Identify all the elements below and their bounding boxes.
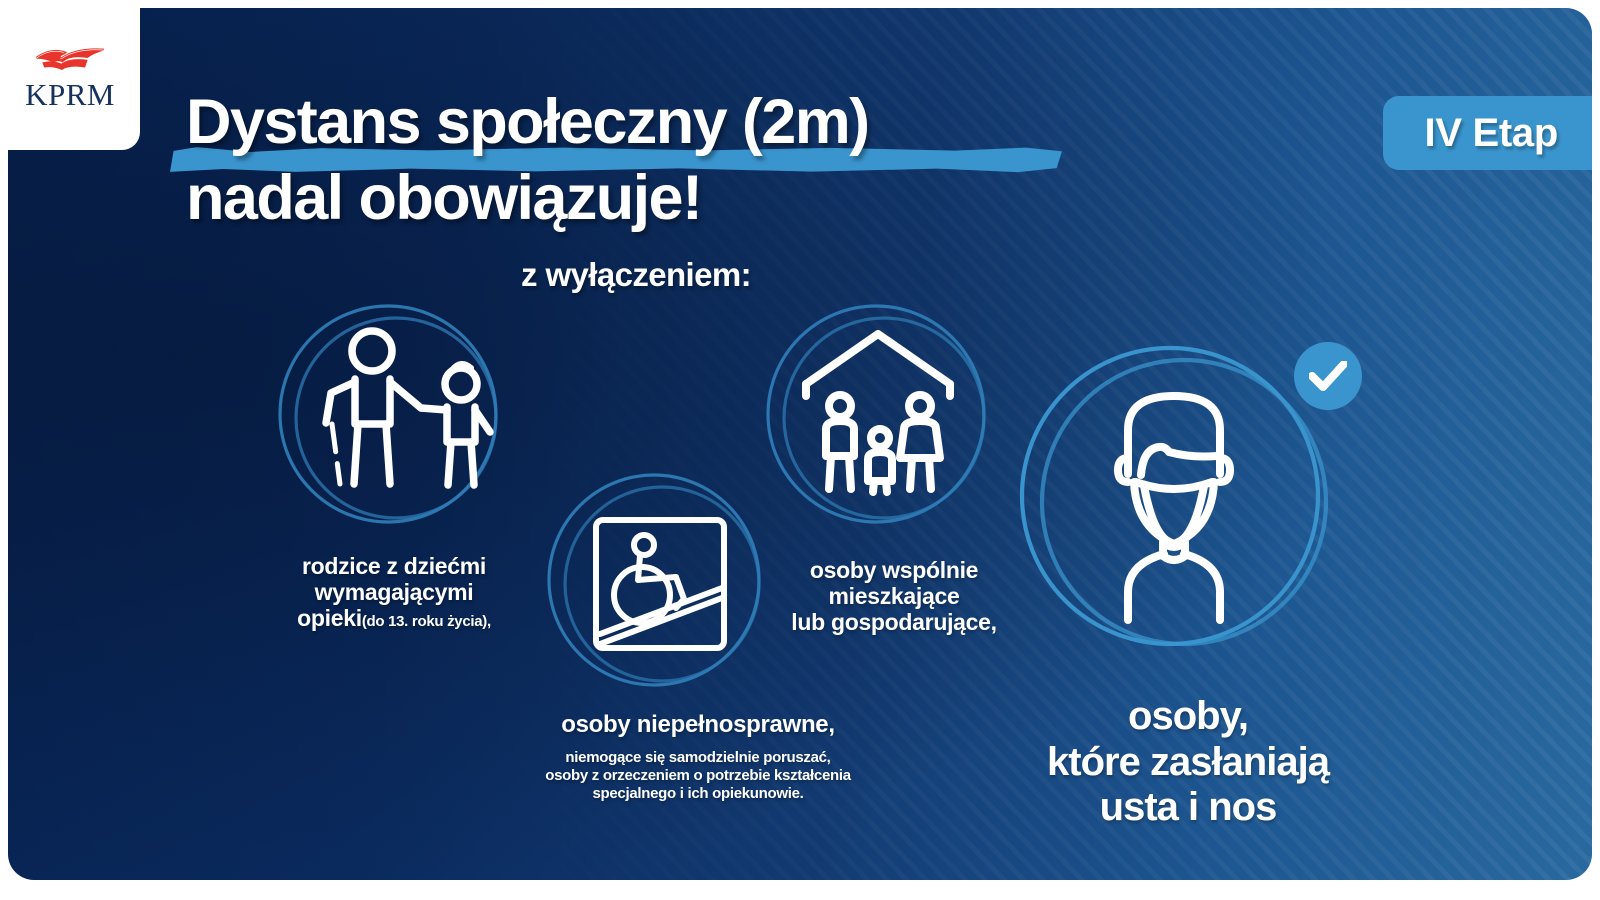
headline-block: Dystans społeczny (2m) nadal obowiązuje!: [186, 92, 1186, 229]
infographic-poster: Dystans społeczny (2m) nadal obowiązuje!…: [0, 0, 1600, 900]
kprm-logo-plate: KPRM: [0, 0, 140, 150]
headline-line-2: nadal obowiązuje!: [186, 168, 1186, 230]
caption-disabled-note-line-3: specjalnego i ich opiekunowie.: [508, 785, 888, 803]
caption-mask-line-2: które zasłaniają: [1008, 740, 1368, 786]
parent-and-child-icon: [254, 296, 534, 536]
caption-parents-note: (do 13. roku życia),: [362, 613, 491, 630]
caption-household: osoby wspólnie mieszkające lub gospodaru…: [744, 558, 1044, 635]
caption-parents-line-2: wymagającymi: [254, 580, 534, 606]
caption-mask-line-1: osoby,: [1008, 694, 1368, 740]
stage-badge: IV Etap: [1383, 96, 1593, 170]
poster-card: Dystans społeczny (2m) nadal obowiązuje!…: [8, 8, 1592, 880]
stage-badge-label: IV Etap: [1425, 111, 1559, 156]
icon-ring-parents: [254, 296, 534, 536]
headline-line-2-text: nadal obowiązuje!: [186, 163, 701, 233]
icon-ring-household: [744, 296, 1044, 536]
caption-household-line-2: mieszkające: [744, 584, 1044, 610]
headline-subtitle: z wyłączeniem:: [186, 256, 1086, 294]
caption-disabled-note-line-2: osoby z orzeczeniem o potrzebie kształce…: [508, 767, 888, 785]
check-badge: [1294, 342, 1362, 410]
caption-parents-line-3-strong: opieki: [297, 605, 362, 631]
caption-disabled: osoby niepełnosprawne, niemogące się sam…: [508, 712, 888, 804]
caption-disabled-main: osoby niepełnosprawne,: [508, 712, 888, 739]
check-mark-icon: [1309, 361, 1347, 391]
polish-flag-icon: [32, 41, 108, 75]
caption-household-line-3: lub gospodarujące,: [744, 610, 1044, 636]
caption-parents-line-1: rodzice z dziećmi: [254, 554, 534, 580]
exception-item-household: osoby wspólnie mieszkające lub gospodaru…: [744, 296, 1044, 635]
caption-disabled-note-line-1: niemogące się samodzielnie poruszać,: [508, 749, 888, 767]
headline-line-1: Dystans społeczny (2m): [186, 92, 1186, 154]
icon-ring-mask: [1008, 334, 1368, 664]
caption-parents-line-3: opieki(do 13. roku życia),: [254, 606, 534, 632]
exception-item-parents: rodzice z dziećmi wymagającymi opieki(do…: [254, 296, 534, 631]
caption-disabled-note: niemogące się samodzielnie poruszać, oso…: [508, 749, 888, 804]
caption-mask: osoby, które zasłaniają usta i nos: [1008, 694, 1368, 831]
family-under-roof-icon: [744, 296, 1014, 536]
headline-line-1-text: Dystans społeczny (2m): [186, 87, 869, 157]
kprm-logo-text: KPRM: [25, 79, 115, 110]
exception-item-mask: osoby, które zasłaniają usta i nos: [1008, 334, 1368, 831]
caption-mask-line-3: usta i nos: [1008, 785, 1368, 831]
caption-household-line-1: osoby wspólnie: [744, 558, 1044, 584]
caption-parents: rodzice z dziećmi wymagającymi opieki(do…: [254, 554, 534, 631]
